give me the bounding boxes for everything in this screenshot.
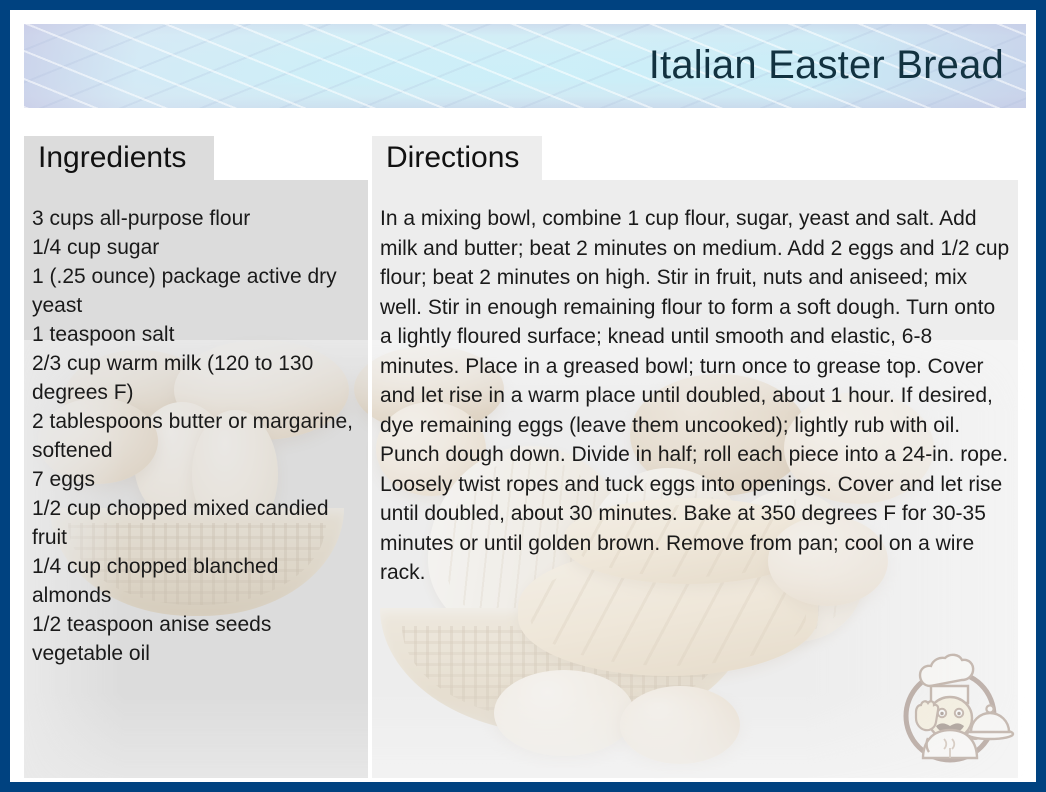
ingredient-item: 1 (.25 ounce) package active dry yeast [32,262,362,320]
directions-text: In a mixing bowl, combine 1 cup flour, s… [380,204,1012,588]
ingredient-item: 1/4 cup sugar [32,233,362,262]
header-banner: Italian Easter Bread [24,24,1026,108]
column-divider [368,180,372,778]
card-inner: Italian Easter Bread [10,10,1036,782]
section-heading-ingredients: Ingredients [24,136,214,180]
page-title: Italian Easter Bread [649,43,1004,87]
ingredient-item: 3 cups all-purpose flour [32,204,362,233]
directions-heading-label: Directions [386,141,519,175]
ingredient-item: 7 eggs [32,465,362,494]
ingredients-list: 3 cups all-purpose flour1/4 cup sugar1 (… [32,204,362,668]
ingredient-item: 1 teaspoon salt [32,320,362,349]
chef-mascot-logo [886,642,1018,774]
ingredients-heading-label: Ingredients [38,141,186,175]
ingredient-item: 1/4 cup chopped blanched almonds [32,552,362,610]
ingredient-item: 2/3 cup warm milk (120 to 130 degrees F) [32,349,362,407]
ingredient-item: 1/2 cup chopped mixed candied fruit [32,494,362,552]
recipe-card: Italian Easter Bread [0,0,1046,792]
ingredient-item: 1/2 teaspoon anise seeds [32,610,362,639]
ingredient-item: 2 tablespoons butter or margarine, softe… [32,407,362,465]
ingredient-item: vegetable oil [32,639,362,668]
section-heading-directions: Directions [372,136,542,180]
